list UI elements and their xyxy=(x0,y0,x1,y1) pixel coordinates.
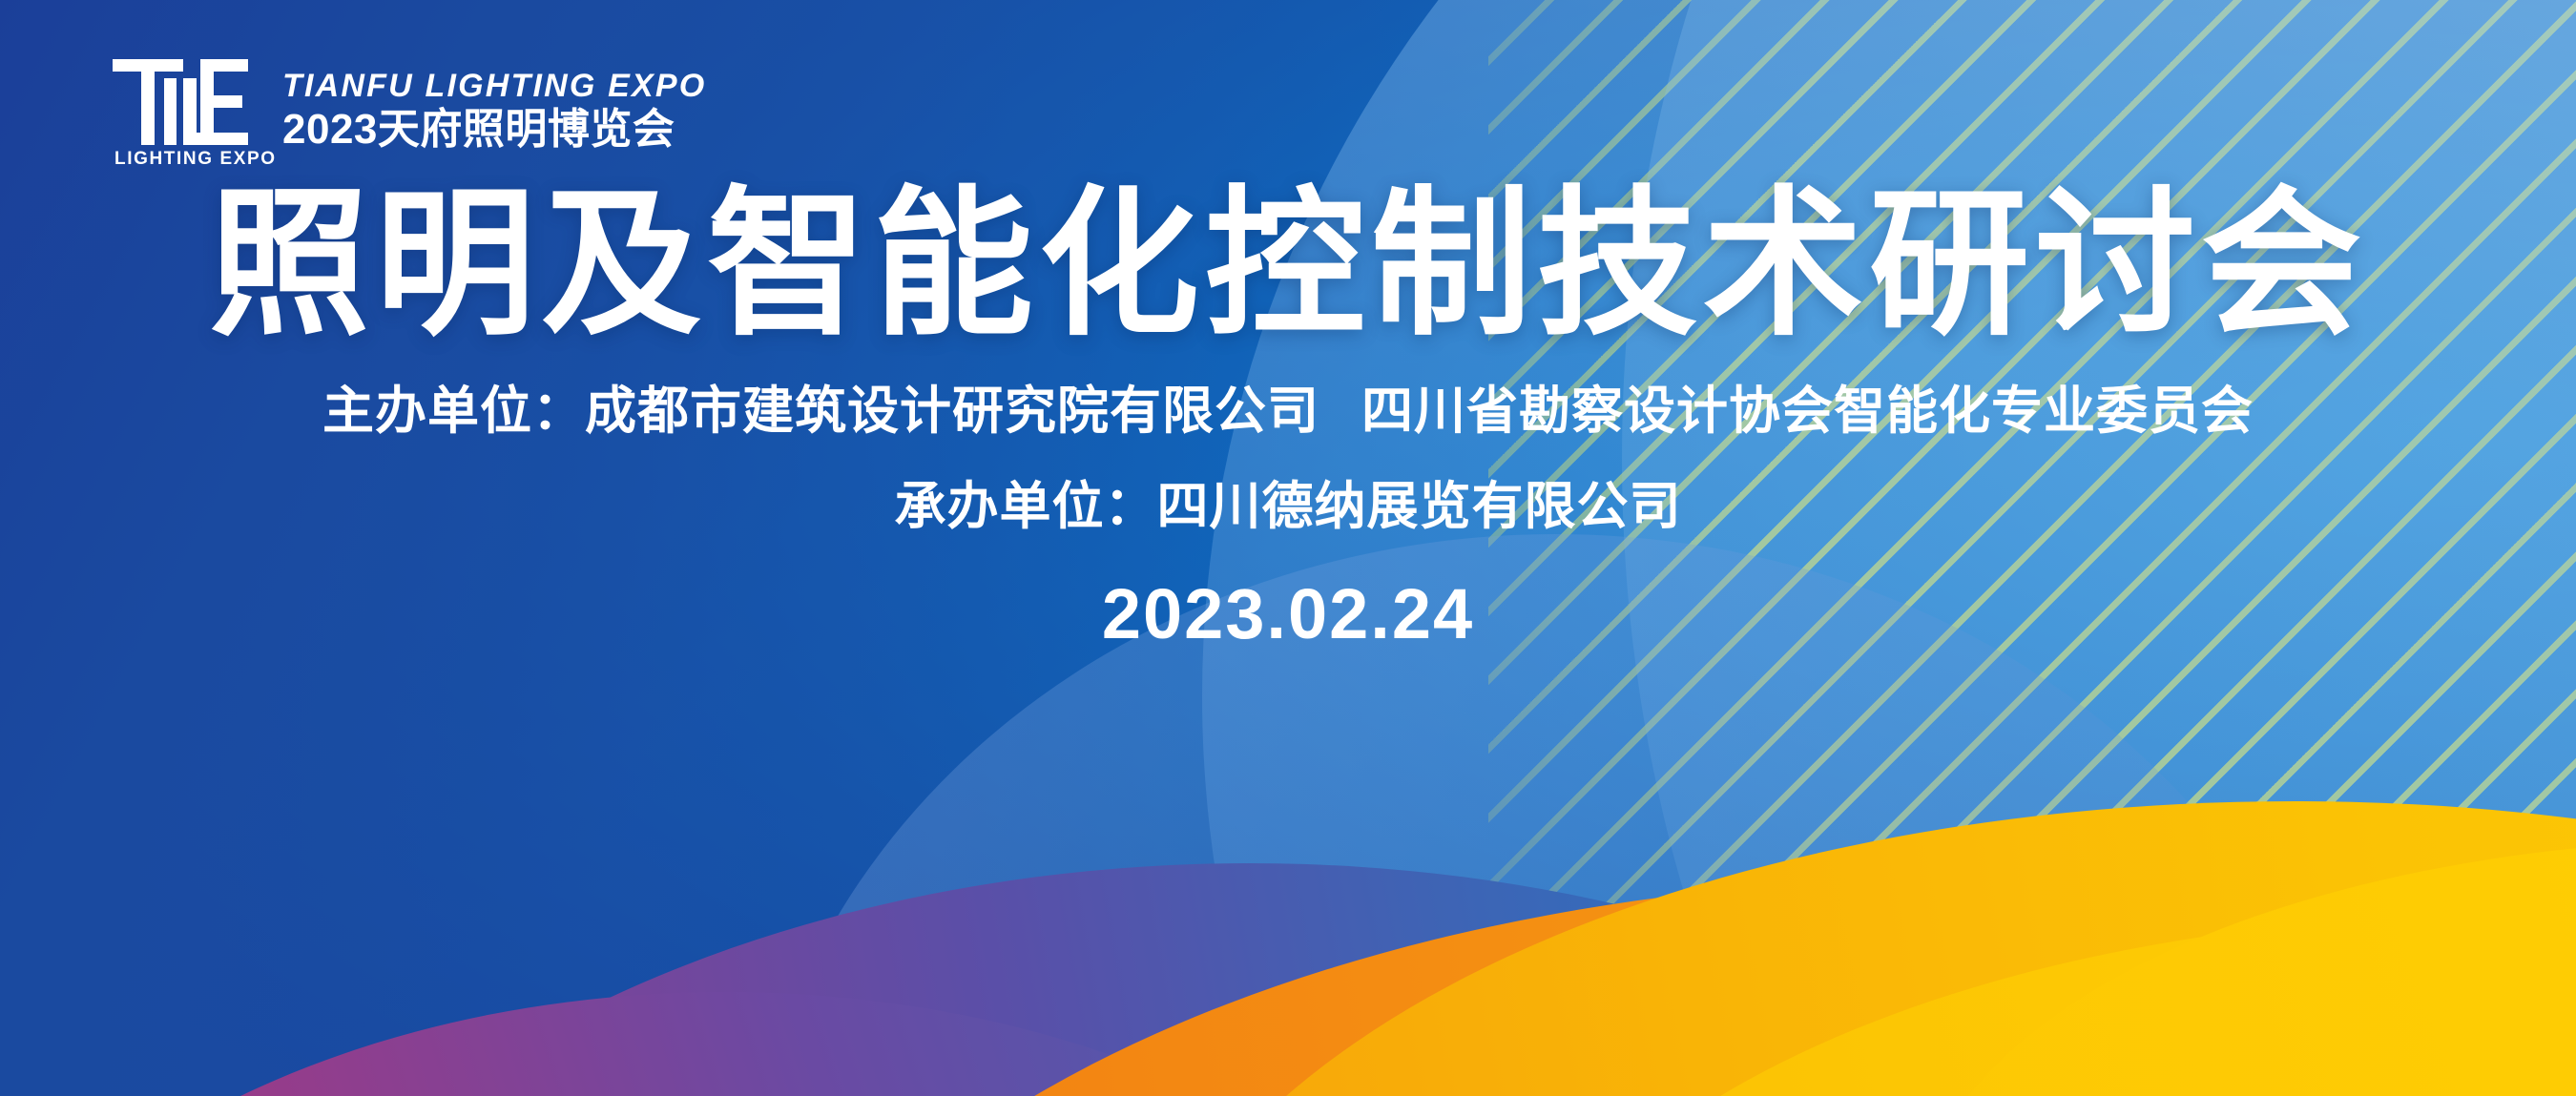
event-title: 照明及智能化控制技术研讨会 xyxy=(57,179,2519,349)
tile-monogram-icon: LIGHTING EXPO xyxy=(113,59,248,166)
organizer-name-1: 成都市建筑设计研究院有限公司 xyxy=(585,383,1319,440)
expo-chinese-name: 2023天府照明博览会 xyxy=(282,106,706,153)
organizer-name-2: 四川省勘察设计协会智能化专业委员会 xyxy=(1361,383,2254,440)
expo-logo: LIGHTING EXPO TIANFU LIGHTING EXPO 2023天… xyxy=(113,59,706,166)
event-banner: LIGHTING EXPO TIANFU LIGHTING EXPO 2023天… xyxy=(0,0,2576,1096)
host-label: 承办单位： xyxy=(895,478,1157,535)
organizer-label: 主办单位： xyxy=(322,383,585,440)
expo-english-name: TIANFU LIGHTING EXPO xyxy=(282,68,706,104)
host-name: 四川德纳展览有限公司 xyxy=(1157,478,1682,535)
expo-logo-wordmark: TIANFU LIGHTING EXPO 2023天府照明博览会 xyxy=(282,68,706,156)
organizer-line: 主办单位：成都市建筑设计研究院有限公司四川省勘察设计协会智能化专业委员会 xyxy=(57,378,2519,445)
tile-monogram-subtitle: LIGHTING EXPO xyxy=(114,149,277,170)
banner-content: 照明及智能化控制技术研讨会 主办单位：成都市建筑设计研究院有限公司四川省勘察设计… xyxy=(0,179,2576,657)
event-date: 2023.02.24 xyxy=(57,572,2519,657)
host-line: 承办单位：四川德纳展览有限公司 xyxy=(57,473,2519,540)
